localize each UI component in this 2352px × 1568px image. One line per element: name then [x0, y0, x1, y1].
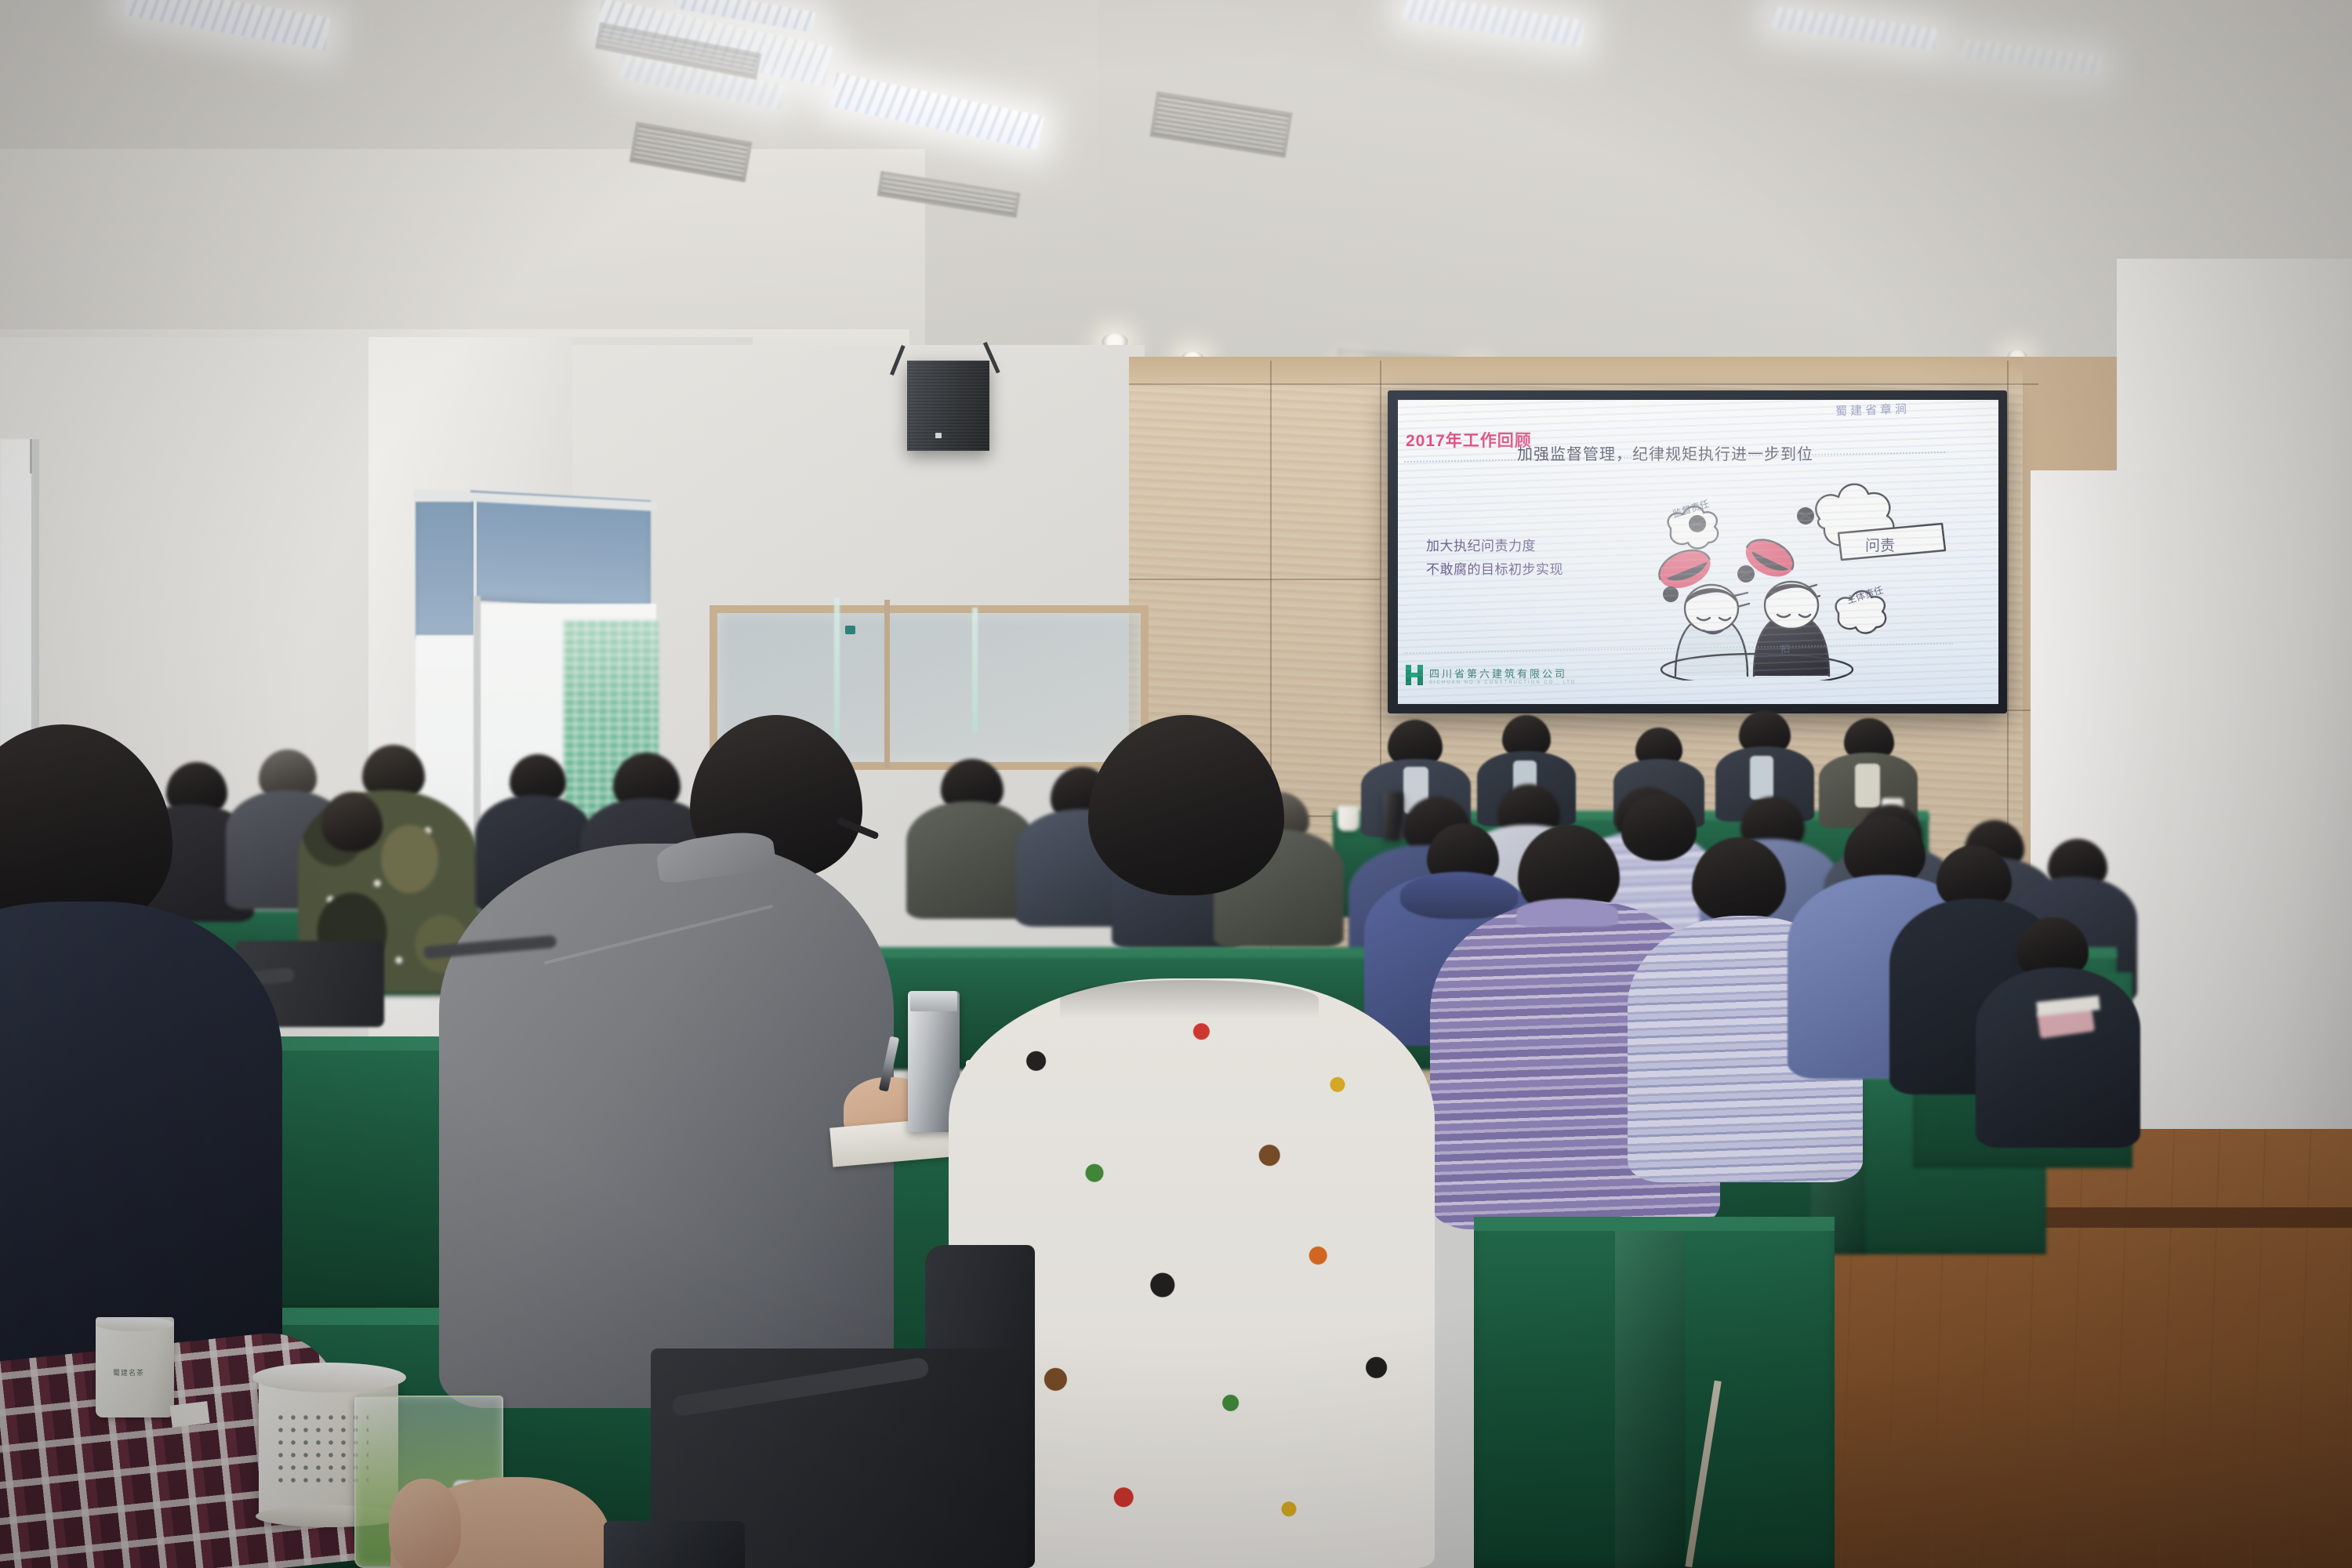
company-name-cn: 四川省第六建筑有限公司 — [1429, 666, 1576, 681]
slide-footer: 四川省第六建筑有限公司 SICHUAN NO.6 CONSTRUCTION CO… — [1406, 665, 1576, 685]
partition-light-strip — [834, 597, 840, 740]
attendee-gray-shirt-torso — [439, 844, 894, 1408]
window-roller-blind[interactable] — [416, 502, 478, 639]
paper-cup: 蜀建名茶 — [96, 1317, 174, 1417]
panel-thermos — [1383, 792, 1403, 840]
partition-latch[interactable] — [845, 626, 855, 634]
slide-watermark: 蜀建省章涧 — [1835, 400, 1911, 419]
wood-panel-seam — [1129, 383, 2038, 385]
ceramic-cup-lid[interactable] — [252, 1363, 406, 1392]
speaker-logo-badge — [935, 433, 942, 438]
slide-cartoon: 问责 监督责任 主体责任 — [1603, 475, 1948, 681]
wood-wall-top-band — [1129, 357, 2038, 383]
cartoon-label-big: 问责 — [1865, 537, 1895, 554]
table-top-edge — [1474, 1217, 1835, 1231]
mobile-device[interactable] — [604, 1521, 745, 1568]
partition-light-strip — [972, 608, 978, 733]
projection-screen: 2017年工作回顾 加强监督管理，纪律规矩执行进一步到位 加大执纪问责力度 不敢… — [1398, 400, 1998, 704]
slide-bullet-1: 加大执纪问责力度 — [1426, 535, 1563, 558]
company-name-en: SICHUAN NO.6 CONSTRUCTION CO., LTD — [1429, 681, 1576, 685]
jacket-collar-shadow — [1060, 980, 1319, 1019]
panel-member-shirt — [1750, 756, 1773, 800]
slide-bullets: 加大执纪问责力度 不敢腐的目标初步实现 — [1426, 535, 1563, 582]
paper-cup-text: 蜀建名茶 — [113, 1367, 144, 1377]
thumb — [389, 1479, 461, 1568]
panel-paper-cup — [1338, 806, 1359, 831]
blind-cord — [30, 439, 32, 474]
cup-rim — [96, 1317, 174, 1331]
slide-section-tag: 2017年工作回顾 — [1406, 428, 1532, 452]
conference-room-photo: 2017年工作回顾 加强监督管理，纪律规矩执行进一步到位 加大执纪问责力度 不敢… — [0, 0, 2352, 1568]
slide-bullet-2: 不敢腐的目标初步实现 — [1426, 558, 1563, 582]
panel-member-shirt — [1855, 764, 1880, 808]
partition-frame-mullion — [884, 600, 890, 768]
floor-baseboard — [2031, 1207, 2352, 1228]
company-h-logo — [1406, 665, 1423, 685]
wood-panel-seam — [1129, 579, 1380, 580]
hoodie-hood — [1400, 872, 1518, 919]
slide-headline: 加强监督管理，纪律规矩执行进一步到位 — [1517, 441, 1813, 464]
polo-collar — [1516, 898, 1618, 927]
table-drape-fold — [1615, 1231, 1686, 1568]
speaker-grille — [907, 361, 989, 451]
thermos-cap[interactable] — [910, 991, 957, 1011]
name-card — [169, 1401, 209, 1428]
attendee-torso — [1976, 967, 2140, 1148]
